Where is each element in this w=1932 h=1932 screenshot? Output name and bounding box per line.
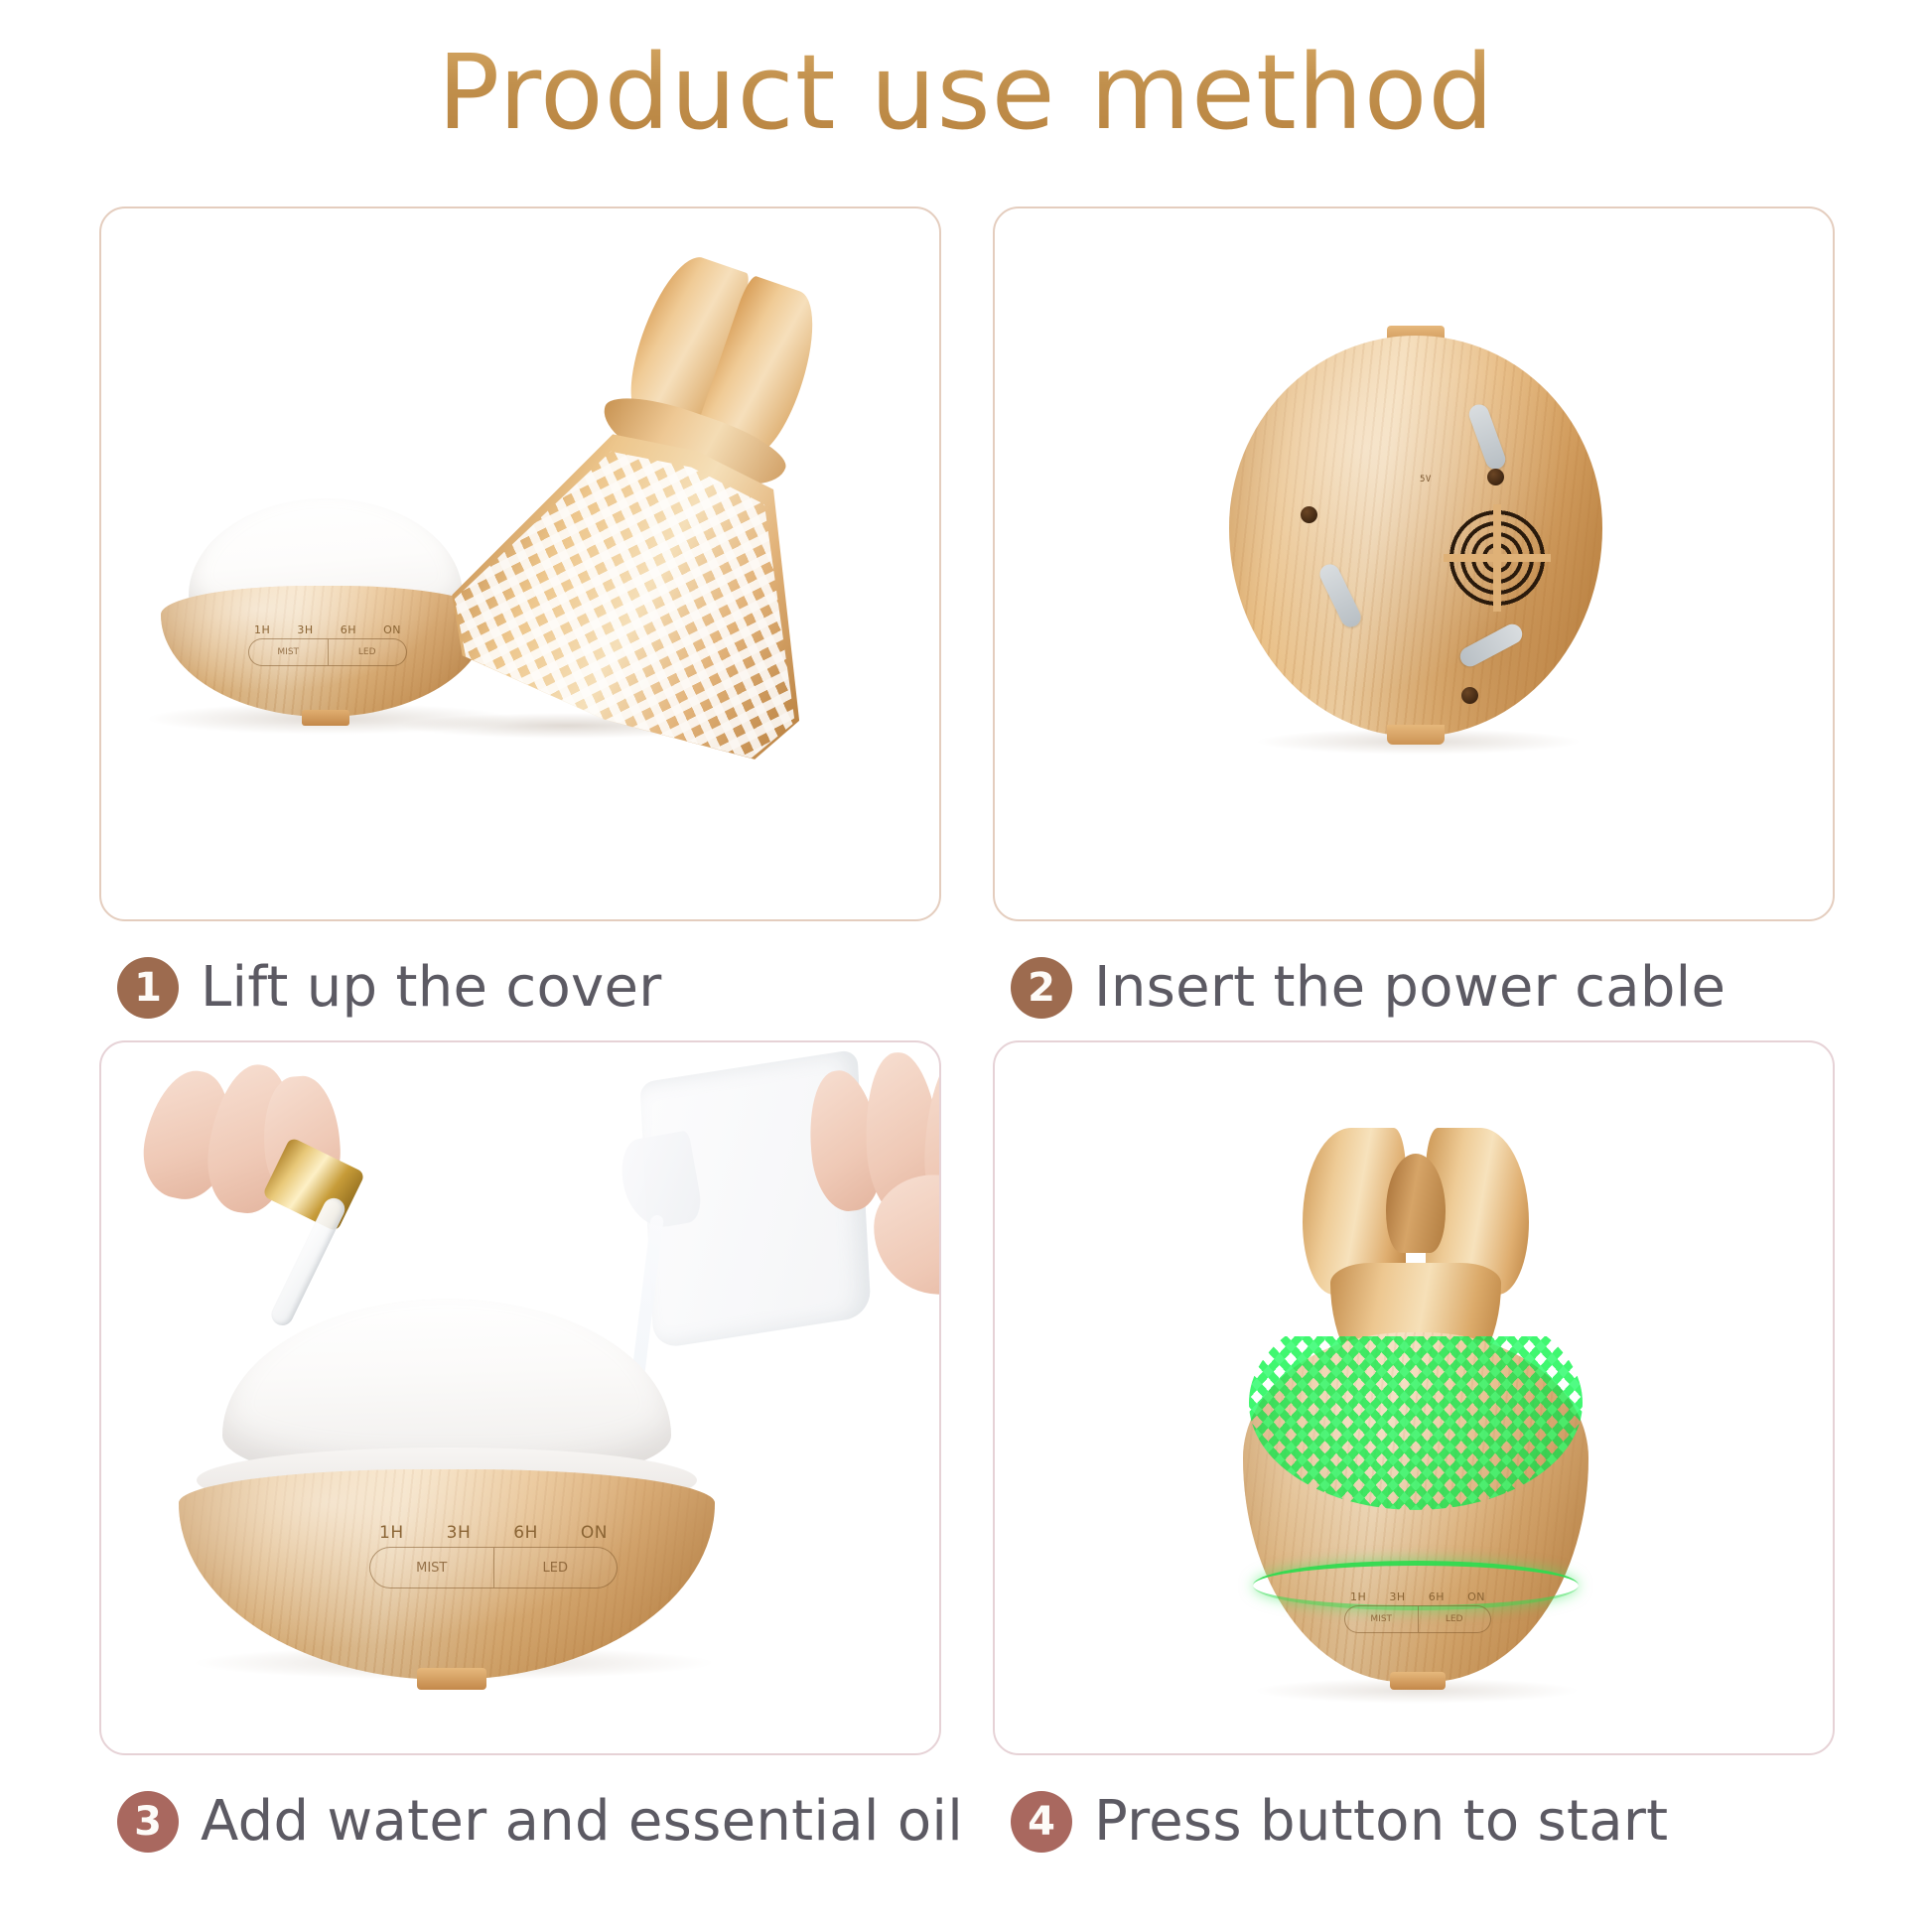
timer-label-6h: 6H [513,1523,538,1543]
timer-label-6h: 6H [1429,1590,1445,1603]
vase-foot [1390,1672,1446,1690]
timer-label-1h: 1H [379,1523,404,1543]
timer-label-on: ON [1467,1590,1485,1603]
button-pill[interactable]: MIST LED [248,638,407,666]
step-badge-3: 3 [117,1791,179,1853]
step-card-2: 5V 2 Insert the power cable [993,207,1835,1020]
diffuser-foot [417,1668,486,1690]
bottom-rating-label: 5V [1420,475,1432,484]
diffuser-foot [302,710,349,726]
step-card-3: 1H 3H 6H ON MIST LED 3 Add water and ess… [99,1040,963,1854]
step-badge-4: 4 [1011,1791,1072,1853]
vase-diffuser: 1H 3H 6H ON MIST LED [1243,1128,1588,1684]
diffuser-base-open: 1H 3H 6H ON MIST LED [179,1299,715,1646]
timer-labels: 1H 3H 6H ON [369,1523,618,1547]
diffuser-base-and-cover-illustration: 1H 3H 6H ON MIST LED [101,208,939,919]
timer-label-3h: 3H [1389,1590,1405,1603]
control-panel[interactable]: 1H 3H 6H ON MIST LED [248,623,407,666]
timer-label-3h: 3H [297,623,313,636]
step-2-image-frame: 5V [993,207,1835,921]
diffuser-base: 1H 3H 6H ON MIST LED [161,506,488,720]
step-badge-1: 1 [117,957,179,1019]
mist-button[interactable]: MIST [370,1548,493,1587]
steps-grid: 1H 3H 6H ON MIST LED [0,207,1932,1932]
timer-label-on: ON [383,623,401,636]
timer-labels: 1H 3H 6H ON [248,623,407,638]
bottom-tab [1387,725,1445,745]
step-4-caption: 4 Press button to start [993,1789,1835,1854]
step-card-4: 1H 3H 6H ON MIST LED 4 Press bu [993,1040,1835,1854]
step-3-caption-text: Add water and essential oil [201,1789,963,1854]
mist-button[interactable]: MIST [1345,1606,1418,1632]
step-4-image-frame: 1H 3H 6H ON MIST LED [993,1040,1835,1755]
add-water-and-oil-illustration: 1H 3H 6H ON MIST LED [101,1042,939,1753]
step-3-image-frame: 1H 3H 6H ON MIST LED [99,1040,941,1755]
diffuser-bottom-illustration: 5V [995,208,1833,919]
timer-label-1h: 1H [1350,1590,1366,1603]
timer-labels: 1H 3H 6H ON [1344,1590,1491,1605]
timer-label-6h: 6H [341,623,356,636]
control-panel[interactable]: 1H 3H 6H ON MIST LED [369,1523,618,1588]
button-pill[interactable]: MIST LED [1344,1605,1491,1633]
air-vent-spokes [1444,504,1551,612]
timer-label-3h: 3H [447,1523,472,1543]
step-1-caption: 1 Lift up the cover [99,955,941,1020]
hand-holding-pitcher [810,1048,941,1277]
led-button[interactable]: LED [1418,1606,1491,1632]
led-button[interactable]: LED [493,1548,618,1587]
step-1-image-frame: 1H 3H 6H ON MIST LED [99,207,941,921]
timer-label-1h: 1H [254,623,270,636]
step-4-caption-text: Press button to start [1094,1789,1668,1854]
button-pill[interactable]: MIST LED [369,1547,618,1588]
control-panel[interactable]: 1H 3H 6H ON MIST LED [1344,1590,1491,1633]
screw-top [1487,469,1504,485]
step-3-caption: 3 Add water and essential oil [99,1789,963,1854]
dropper-gold-cap [262,1137,365,1232]
step-1-caption-text: Lift up the cover [201,955,662,1020]
led-button[interactable]: LED [328,639,407,665]
step-2-caption-text: Insert the power cable [1094,955,1725,1020]
lattice-cover [431,216,932,778]
assembled-diffuser-glowing-illustration: 1H 3H 6H ON MIST LED [995,1042,1833,1753]
screw-bottom [1461,687,1478,704]
screw-left [1301,506,1317,523]
step-card-1: 1H 3H 6H ON MIST LED [99,207,941,1020]
step-2-caption: 2 Insert the power cable [993,955,1835,1020]
page-title: Product use method [0,28,1932,157]
mist-button[interactable]: MIST [249,639,328,665]
timer-label-on: ON [581,1523,608,1543]
step-badge-2: 2 [1011,957,1072,1019]
